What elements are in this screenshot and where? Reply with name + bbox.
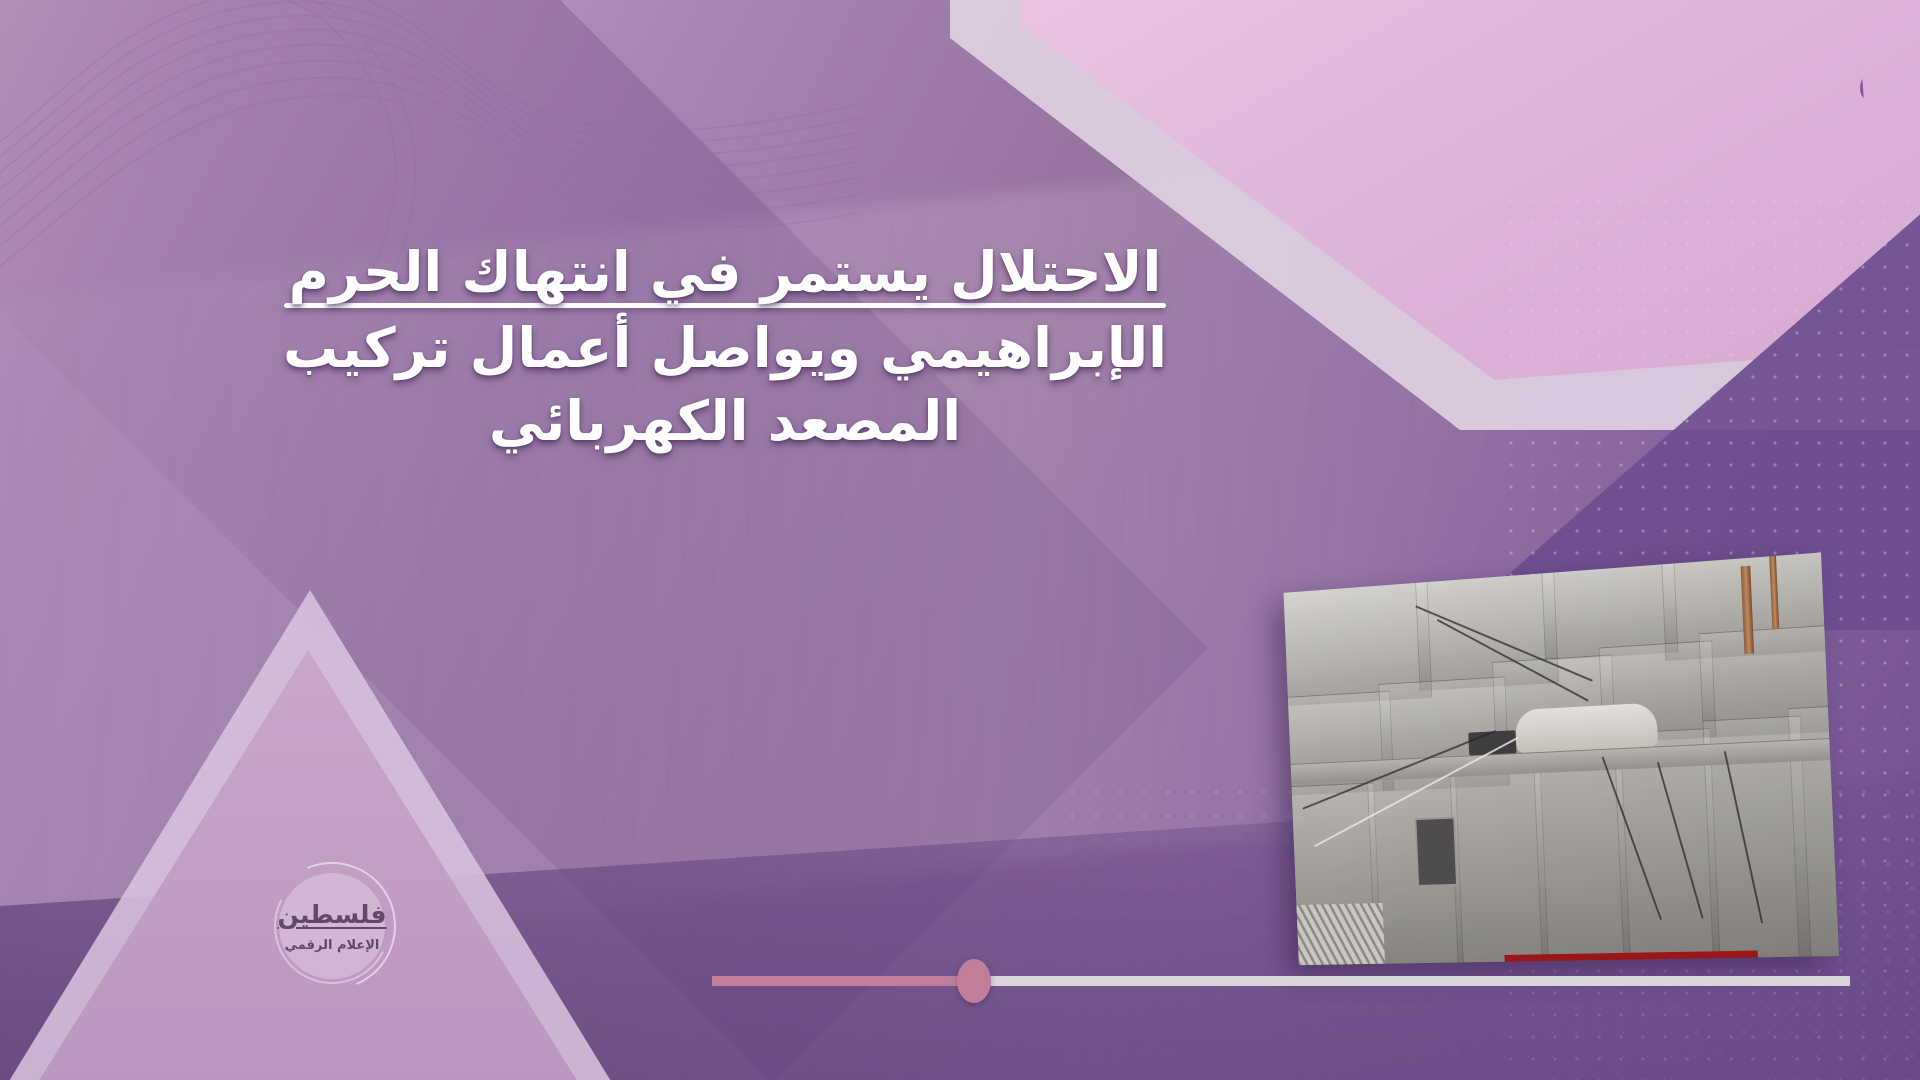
progress-fill — [712, 976, 974, 986]
watermark-logo: فلسطين الإعلام الرقمي — [268, 862, 396, 990]
headline-block: الاحتلال يستمر في انتهاك الحرم الإبراهيم… — [275, 236, 1175, 458]
news-card-stage: فلسطين هذا الصباح الاحتلال يستمر في انته… — [0, 0, 1920, 1080]
watermark-tagline: الإعلام الرقمي — [268, 938, 396, 953]
progress-thumb-handle[interactable] — [957, 959, 991, 1003]
headline-line-1: الاحتلال يستمر في انتهاك الحرم — [275, 236, 1175, 309]
headline-line-3: المصعد الكهربائي — [275, 385, 1175, 458]
headline-line-2: الإبراهيمي ويواصل أعمال تركيب — [275, 312, 1175, 385]
watermark-name: فلسطين — [268, 900, 396, 929]
video-thumbnail[interactable] — [1284, 552, 1840, 965]
video-thumbnail-image — [1284, 552, 1840, 965]
video-progress-bar[interactable] — [712, 976, 1850, 986]
